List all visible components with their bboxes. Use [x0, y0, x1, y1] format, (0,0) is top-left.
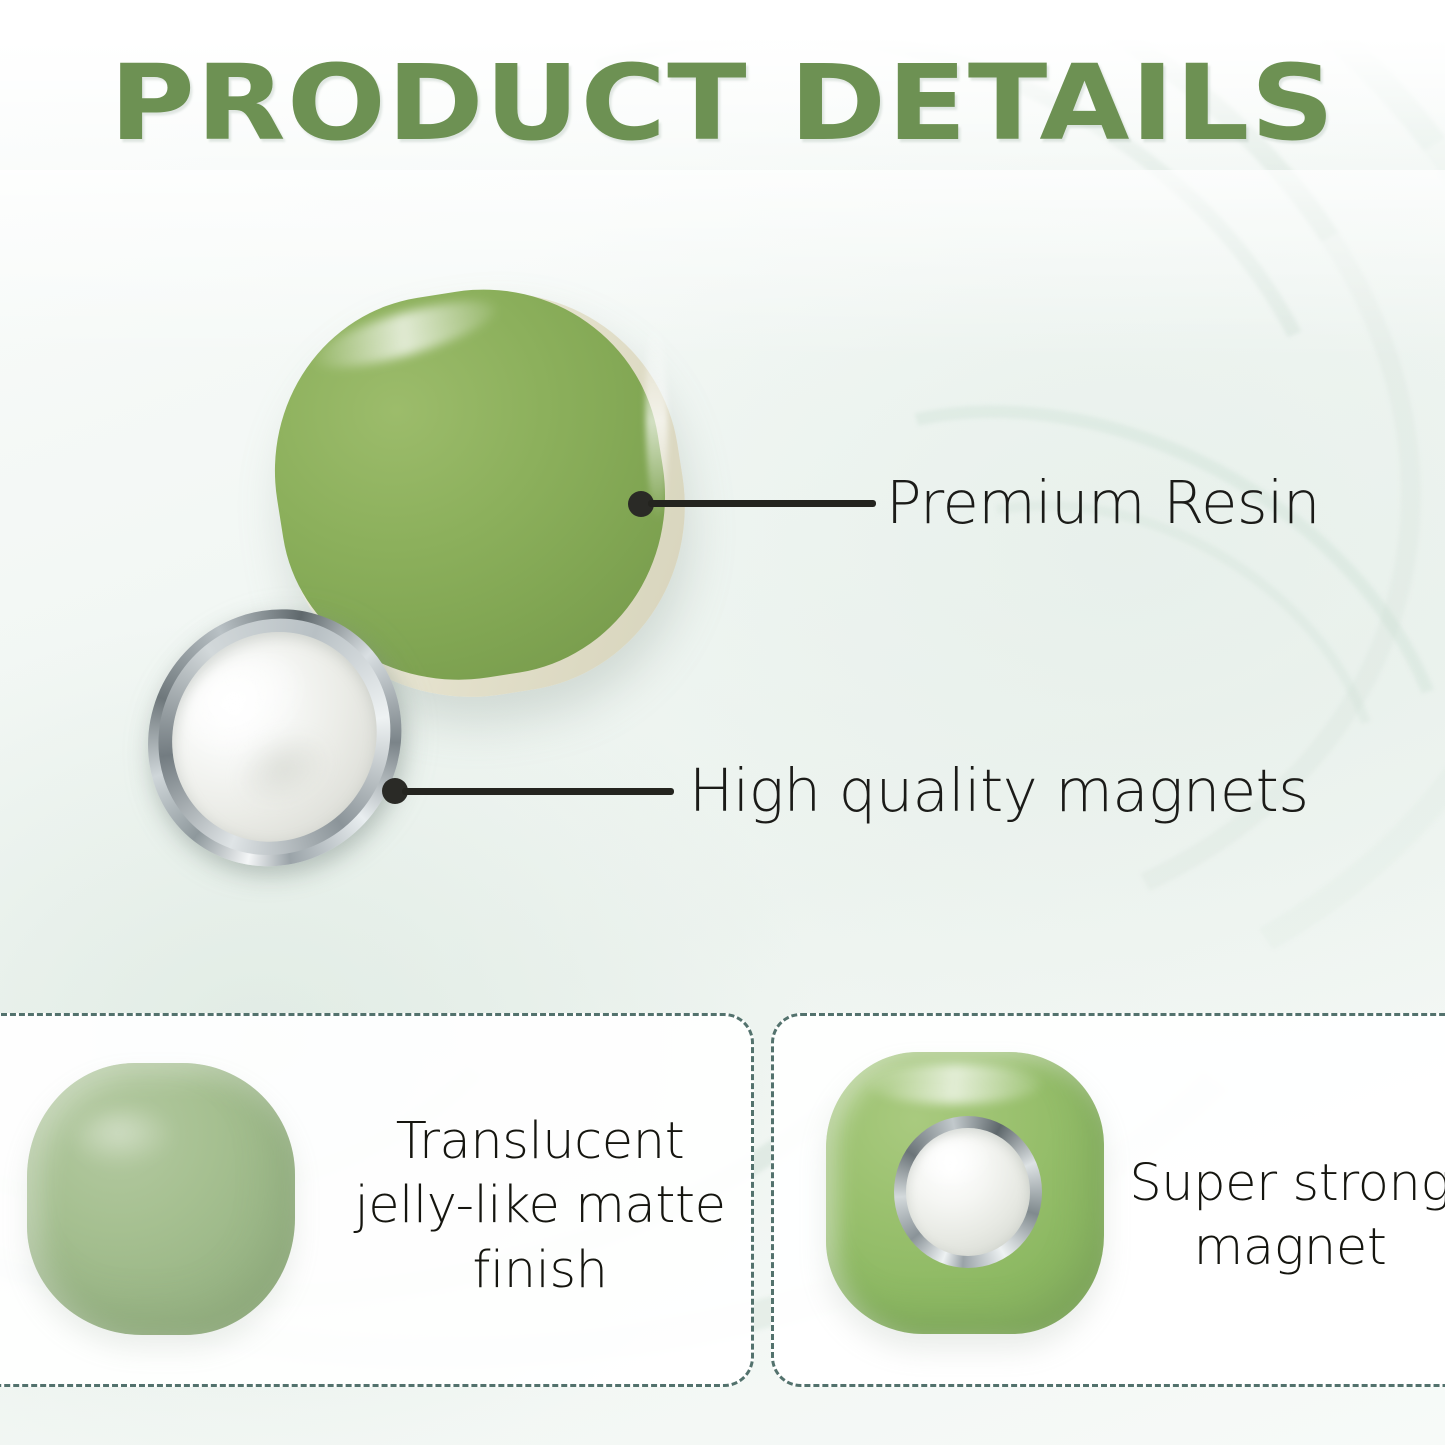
- caption-line: finish: [472, 1241, 607, 1300]
- caption-line: Super strong: [1129, 1154, 1445, 1213]
- caption-line: magnet: [1194, 1218, 1387, 1277]
- callout-label: Premium Resin: [886, 468, 1320, 537]
- caption-line: jelly-like matte: [354, 1176, 725, 1235]
- embedded-magnet-highlight: [920, 1138, 992, 1190]
- page-title: PRODUCT DETAILS: [0, 42, 1445, 164]
- background-mid-wash: [0, 170, 1445, 360]
- feature-caption-strong-magnet: Super strong magnet: [1108, 1152, 1445, 1281]
- matte-squircle-highlight: [72, 1110, 176, 1166]
- product-details-infographic: PRODUCT DETAILS Premium Resin High quali…: [0, 0, 1445, 1445]
- callout-leader-line: [648, 500, 876, 507]
- feature-caption-matte-finish: Translucent jelly-like matte finish: [350, 1110, 730, 1303]
- glossy-squircle-highlight: [866, 1064, 1042, 1104]
- callout-label: High quality magnets: [689, 756, 1309, 825]
- matte-green-squircle-image: [27, 1063, 295, 1335]
- caption-line: Translucent: [396, 1112, 685, 1171]
- ripple-arc: [0, 0, 1445, 1188]
- ripple-arc: [24, 0, 1445, 1098]
- callout-leader-line: [402, 788, 674, 795]
